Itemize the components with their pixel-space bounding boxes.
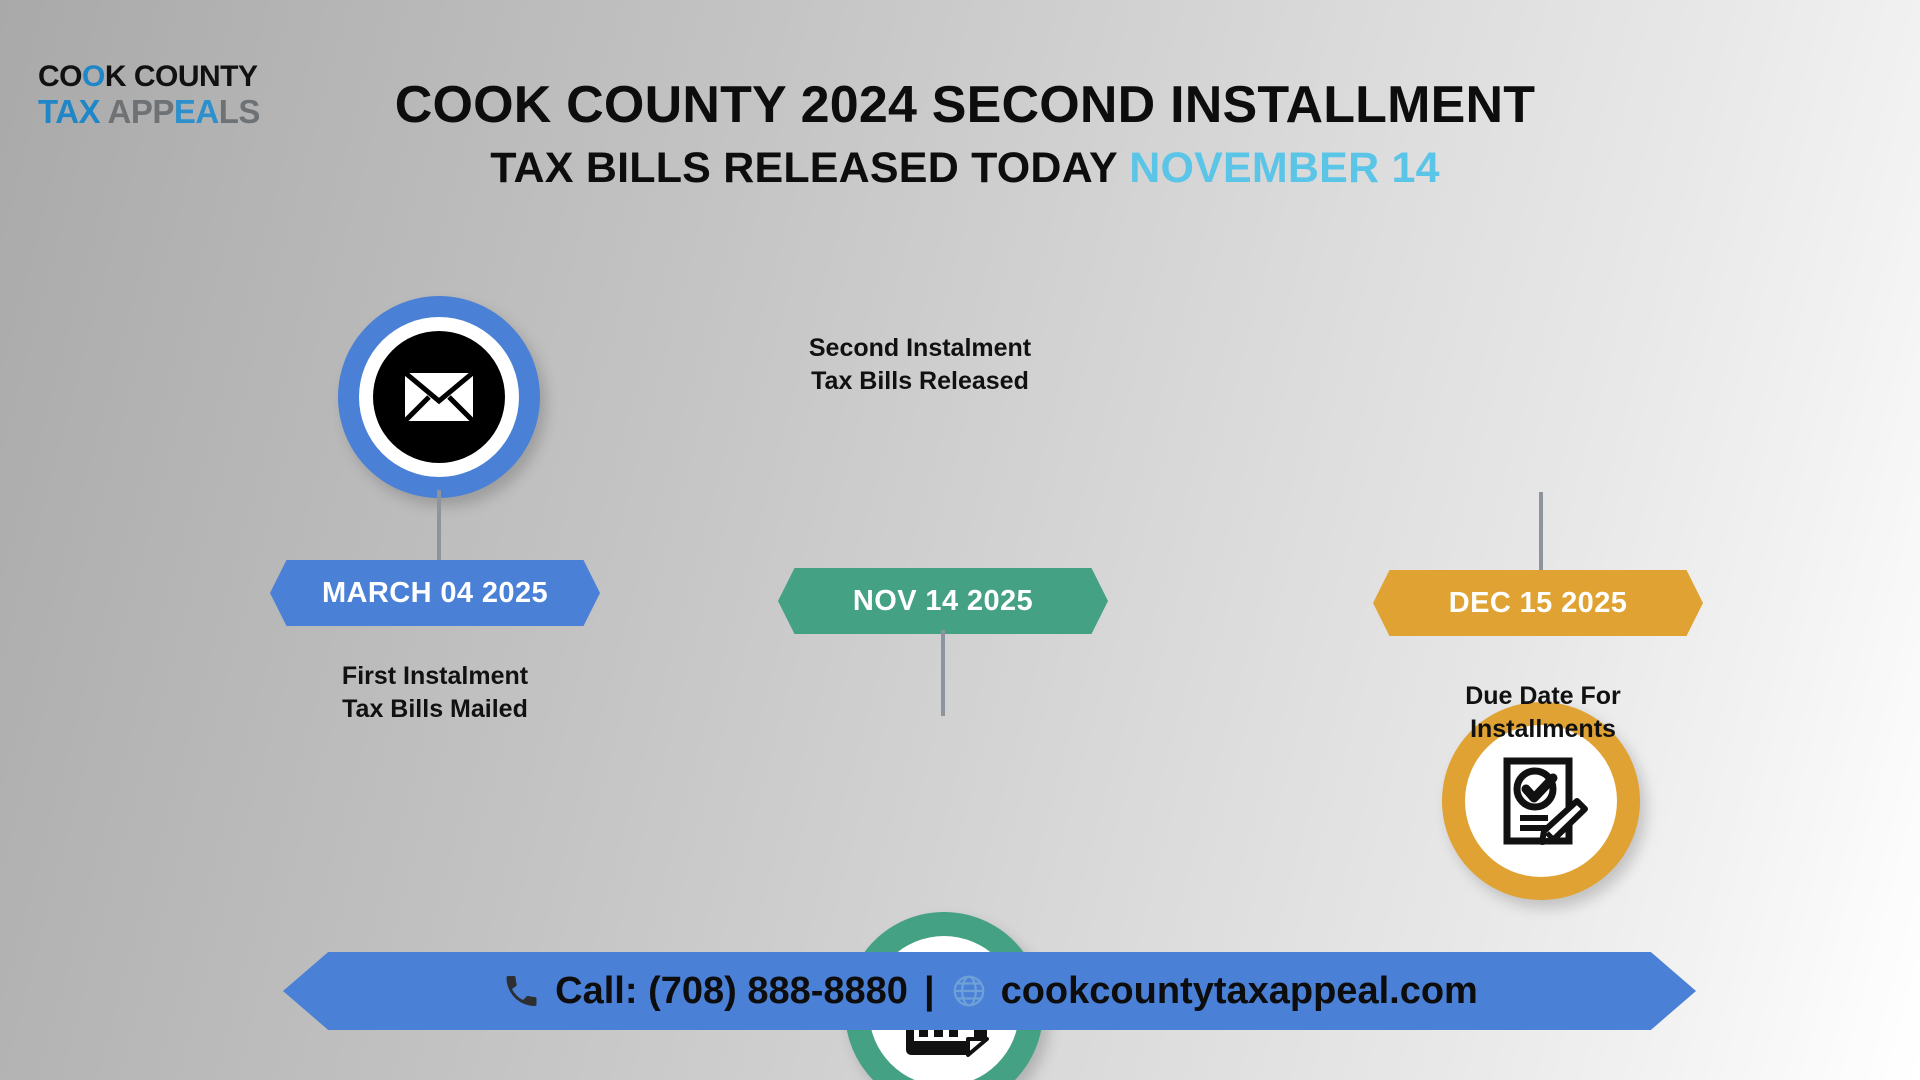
caption-first-line-2: Tax Bills Mailed — [255, 693, 615, 726]
logo-text-tax: TAX — [38, 93, 100, 130]
timeline-date-badge-second: NOV 14 2025 — [778, 568, 1108, 634]
globe-icon — [951, 973, 987, 1009]
logo-text-kcounty: K COUNTY — [105, 60, 258, 93]
brand-logo: COOK COUNTY TAX APPEALS — [38, 62, 308, 128]
headline-line-1: COOK COUNTY 2024 SECOND INSTALLMENT — [300, 78, 1630, 133]
timeline-node-first-instalment-circle — [338, 296, 540, 498]
caption-first-line-1: First Instalment — [255, 660, 615, 693]
envelope-icon — [401, 369, 477, 425]
timeline-date-third: DEC 15 2025 — [1449, 587, 1628, 620]
timeline-connector-first — [437, 490, 441, 568]
document-check-pencil-icon — [1493, 753, 1589, 849]
headline-date-accent: NOVEMBER 14 — [1129, 144, 1439, 192]
caption-third-line-1: Due Date For — [1363, 680, 1723, 713]
phone-icon-glyph — [501, 971, 541, 1011]
circle-white-disc — [1465, 725, 1617, 877]
timeline-connector-second — [941, 630, 945, 716]
logo-line-tax-appeals: TAX APPEALS — [38, 95, 308, 128]
timeline-date-second: NOV 14 2025 — [853, 585, 1033, 618]
timeline-date-first: MARCH 04 2025 — [322, 577, 548, 610]
logo-line-cook-county: COOK COUNTY — [38, 62, 308, 92]
headline-line-2-main: TAX BILLS RELEASED TODAY — [490, 144, 1129, 192]
timeline-date-badge-third: DEC 15 2025 — [1373, 570, 1703, 636]
logo-text-app: APP — [100, 93, 174, 130]
page-title: COOK COUNTY 2024 SECOND INSTALLMENT TAX … — [300, 78, 1630, 192]
infographic-poster: COOK COUNTY TAX APPEALS COOK COUNTY 2024… — [0, 0, 1920, 1080]
timeline-date-badge-first: MARCH 04 2025 — [270, 560, 600, 626]
circle-black-disc — [373, 331, 505, 463]
timeline-caption-first: First Instalment Tax Bills Mailed — [255, 660, 615, 725]
globe-icon-glyph — [951, 973, 987, 1009]
timeline-caption-third: Due Date For Installments — [1363, 680, 1723, 745]
caption-second-line-1: Second Instalment — [740, 332, 1100, 365]
logo-accent-o: O — [82, 60, 105, 93]
caption-third-line-2: Installments — [1363, 713, 1723, 746]
contact-bar: Call: (708) 888-8880 | cookcountytaxappe… — [283, 952, 1696, 1030]
headline-line-2: TAX BILLS RELEASED TODAY NOVEMBER 14 — [300, 145, 1630, 191]
logo-text-ls: LS — [219, 93, 260, 130]
circle-white-ring — [359, 317, 519, 477]
website-link[interactable]: cookcountytaxappeal.com — [1001, 970, 1478, 1013]
timeline-connector-third — [1539, 492, 1543, 572]
logo-text-ea: EA — [174, 93, 219, 130]
contact-separator: | — [924, 970, 935, 1013]
logo-text-co: CO — [38, 60, 82, 93]
timeline-caption-second: Second Instalment Tax Bills Released — [740, 332, 1100, 397]
phone-label[interactable]: Call: (708) 888-8880 — [555, 970, 908, 1013]
caption-second-line-2: Tax Bills Released — [740, 365, 1100, 398]
phone-icon — [501, 971, 541, 1011]
